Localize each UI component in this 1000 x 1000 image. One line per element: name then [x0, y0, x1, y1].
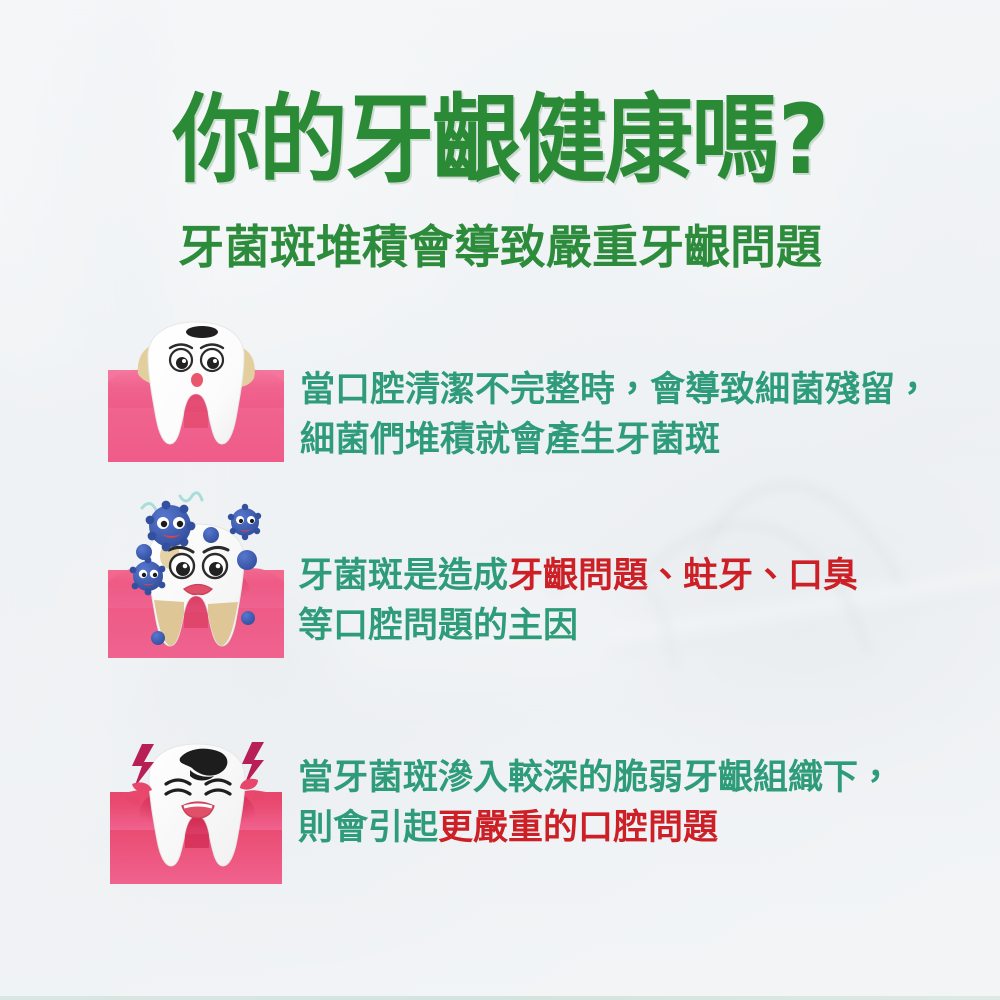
bacteria-germ-small-2 [203, 527, 219, 543]
illustration-tooth-in-pain [102, 726, 290, 891]
info-row-1-line-1: 當口腔清潔不完整時，會導致細菌殘留， [300, 366, 930, 416]
info-row-2: 牙菌斑是造成牙齦問題、蛀牙、口臭 等口腔問題的主因 [102, 490, 858, 665]
stink-squiggle-2 [180, 493, 202, 501]
bacteria-germ-small-1 [136, 544, 152, 560]
info-row-2-text: 牙菌斑是造成牙齦問題、蛀牙、口臭 等口腔問題的主因 [298, 552, 858, 651]
info-row-3: 當牙菌斑滲入較深的脆弱牙齦組織下， 則會引起更嚴重的口腔問題 [102, 726, 893, 891]
info-row-2-line-1: 牙菌斑是造成牙齦問題、蛀牙、口臭 [298, 552, 858, 602]
page-subtitle: 牙菌斑堆積會導致嚴重牙齦問題 [0, 222, 1000, 273]
info-row-2-line-1-plain: 牙菌斑是造成 [298, 556, 508, 596]
info-row-1: 當口腔清潔不完整時，會導致細菌殘留， 細菌們堆積就會產生牙菌斑 [102, 308, 930, 468]
info-row-3-text: 當牙菌斑滲入較深的脆弱牙齦組織下， 則會引起更嚴重的口腔問題 [298, 754, 893, 853]
info-row-3-line-2-plain: 則會引起 [298, 808, 438, 848]
bacteria-germ-small-5 [151, 631, 165, 645]
poster-content: 你的牙齦健康嗎? 牙菌斑堆積會導致嚴重牙齦問題 [0, 0, 1000, 1000]
info-row-1-line-2: 細菌們堆積就會產生牙菌斑 [300, 416, 930, 466]
illustration-tooth-with-bacteria [102, 490, 290, 665]
dental-health-poster: 你的牙齦健康嗎? 牙菌斑堆積會導致嚴重牙齦問題 [0, 0, 1000, 1000]
info-row-3-line-2: 則會引起更嚴重的口腔問題 [298, 804, 893, 854]
bacteria-germ-small-4 [241, 611, 255, 625]
tooth-plaque-svg [102, 308, 290, 468]
bacteria-germ-small-3 [237, 550, 257, 570]
info-row-2-line-2: 等口腔問題的主因 [298, 602, 858, 652]
tooth-pain-svg [102, 726, 290, 891]
tooth-bacteria-svg [102, 490, 290, 665]
info-row-1-text: 當口腔清潔不完整時，會導致細菌殘留， 細菌們堆積就會產生牙菌斑 [300, 366, 930, 465]
info-row-3-line-2-highlight: 更嚴重的口腔問題 [438, 808, 718, 848]
page-title: 你的牙齦健康嗎? [40, 92, 960, 188]
info-row-2-line-1-highlight: 牙齦問題、蛀牙、口臭 [508, 556, 858, 596]
info-row-3-line-1: 當牙菌斑滲入較深的脆弱牙齦組織下， [298, 754, 893, 804]
illustration-tooth-with-plaque [102, 308, 290, 468]
